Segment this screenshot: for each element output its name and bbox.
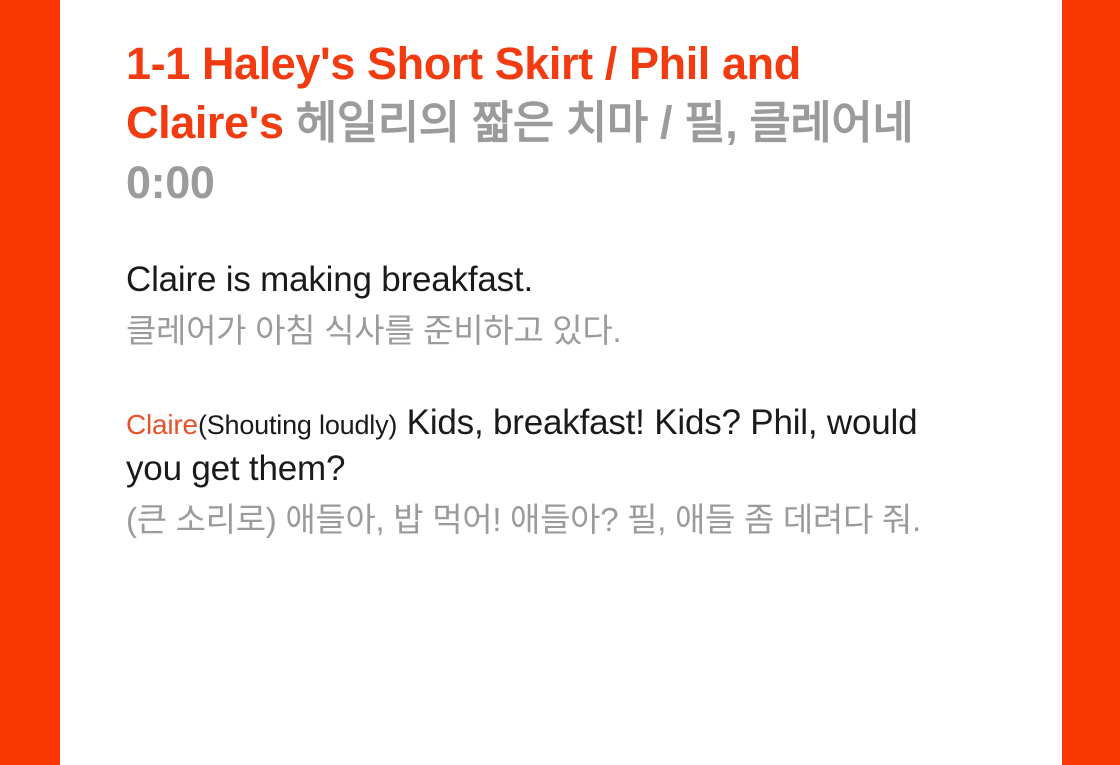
right-accent-bar (1062, 0, 1120, 765)
script-page: 1-1 Haley's Short Skirt / Phil and Clair… (0, 0, 1120, 765)
narration-korean: 클레어가 아침 식사를 준비하고 있다. (126, 309, 961, 353)
speaker-name: Claire (126, 409, 198, 440)
stage-direction: (Shouting loudly) (198, 410, 397, 440)
dialogue-english-line: Claire(Shouting loudly) Kids, breakfast!… (126, 400, 961, 492)
page-title: 1-1 Haley's Short Skirt / Phil and Clair… (126, 0, 958, 212)
dialogue-korean: (큰 소리로) 애들아, 밥 먹어! 애들아? 필, 애들 좀 데려다 줘. (126, 498, 961, 542)
narration-block: Claire is making breakfast. 클레어가 아침 식사를 … (126, 257, 961, 353)
left-accent-bar (0, 0, 60, 765)
dialogue-block: Claire(Shouting loudly) Kids, breakfast!… (126, 400, 961, 542)
narration-english: Claire is making breakfast. (126, 257, 961, 303)
script-content: 1-1 Haley's Short Skirt / Phil and Clair… (60, 0, 1062, 765)
